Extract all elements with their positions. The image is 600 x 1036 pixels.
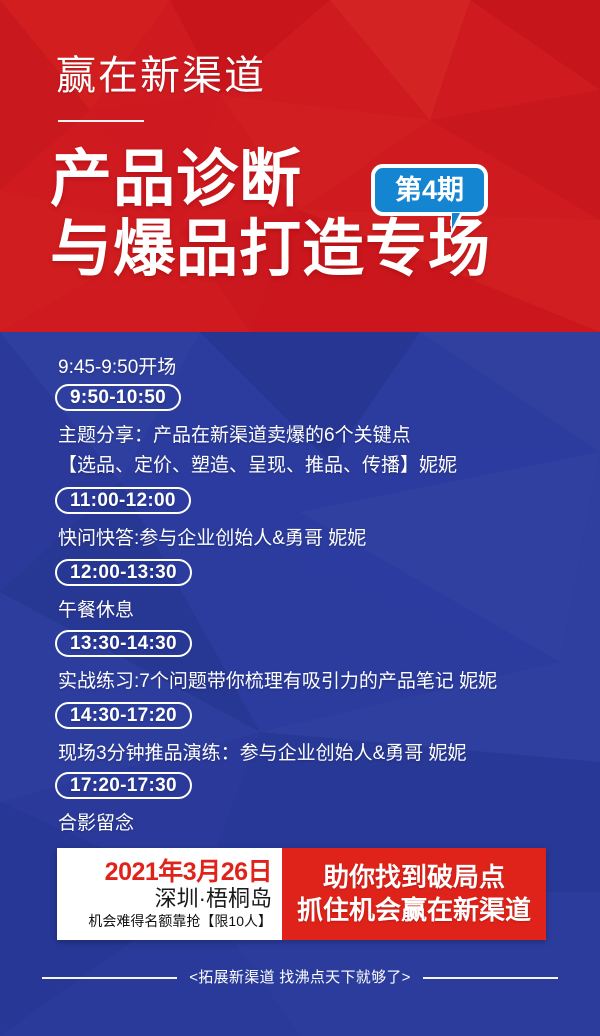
schedule-desc: 【选品、定价、塑造、呈现、推品、传播】妮妮 — [58, 452, 457, 479]
event-seats-note: 机会难得名额靠抢【限10人】 — [88, 912, 272, 931]
edition-badge: 第4期 — [371, 164, 488, 216]
schedule-time-pill: 14:30-17:20 — [55, 702, 192, 729]
eyebrow-rule — [58, 120, 144, 122]
event-date: 2021年3月26日 — [105, 858, 272, 886]
poster-header: 赢在新渠道 产品诊断 与爆品打造专场 第4期 — [0, 0, 600, 332]
schedule-desc: 午餐休息 — [58, 597, 134, 624]
slogan-line-2: 抓住机会赢在新渠道 — [297, 894, 531, 927]
event-slogan-panel: 助你找到破局点 抓住机会赢在新渠道 — [282, 848, 546, 940]
schedule-time-pill: 13:30-14:30 — [55, 630, 192, 657]
schedule-desc: 现场3分钟推品演练：参与企业创始人&勇哥 妮妮 — [58, 740, 467, 767]
schedule-desc: 主题分享：产品在新渠道卖爆的6个关键点 — [58, 422, 411, 449]
event-location: 深圳·梧桐岛 — [155, 886, 272, 912]
title-line-2: 与爆品打造专场 — [50, 218, 491, 282]
poster-footer: <拓展新渠道 找沸点天下就够了> — [0, 968, 600, 988]
event-date-panel: 2021年3月26日 深圳·梧桐岛 机会难得名额靠抢【限10人】 — [57, 848, 282, 940]
eyebrow-text: 赢在新渠道 — [56, 52, 266, 100]
edition-badge-label: 第4期 — [395, 177, 464, 204]
schedule-desc: 快问快答:参与企业创始人&勇哥 妮妮 — [58, 525, 366, 552]
event-poster: 赢在新渠道 产品诊断 与爆品打造专场 第4期 — [0, 0, 600, 1036]
schedule-time-pill: 9:50-10:50 — [55, 384, 181, 411]
speech-bubble-tail-inner-icon — [452, 213, 460, 229]
schedule-time-pill: 11:00-12:00 — [55, 487, 191, 514]
footer-rule-right — [423, 977, 558, 979]
schedule-time-pill: 12:00-13:30 — [55, 559, 192, 586]
footer-rule-left — [42, 977, 177, 979]
event-info-banner: 2021年3月26日 深圳·梧桐岛 机会难得名额靠抢【限10人】 助你找到破局点… — [57, 848, 546, 940]
footer-tagline: <拓展新渠道 找沸点天下就够了> — [189, 968, 411, 988]
schedule-time-pill: 17:20-17:30 — [55, 772, 192, 799]
slogan-line-1: 助你找到破局点 — [323, 861, 505, 894]
opening-time-text: 9:45-9:50开场 — [58, 356, 176, 380]
schedule-desc: 实战练习:7个问题带你梳理有吸引力的产品笔记 妮妮 — [58, 668, 497, 695]
schedule-desc: 合影留念 — [58, 810, 134, 837]
